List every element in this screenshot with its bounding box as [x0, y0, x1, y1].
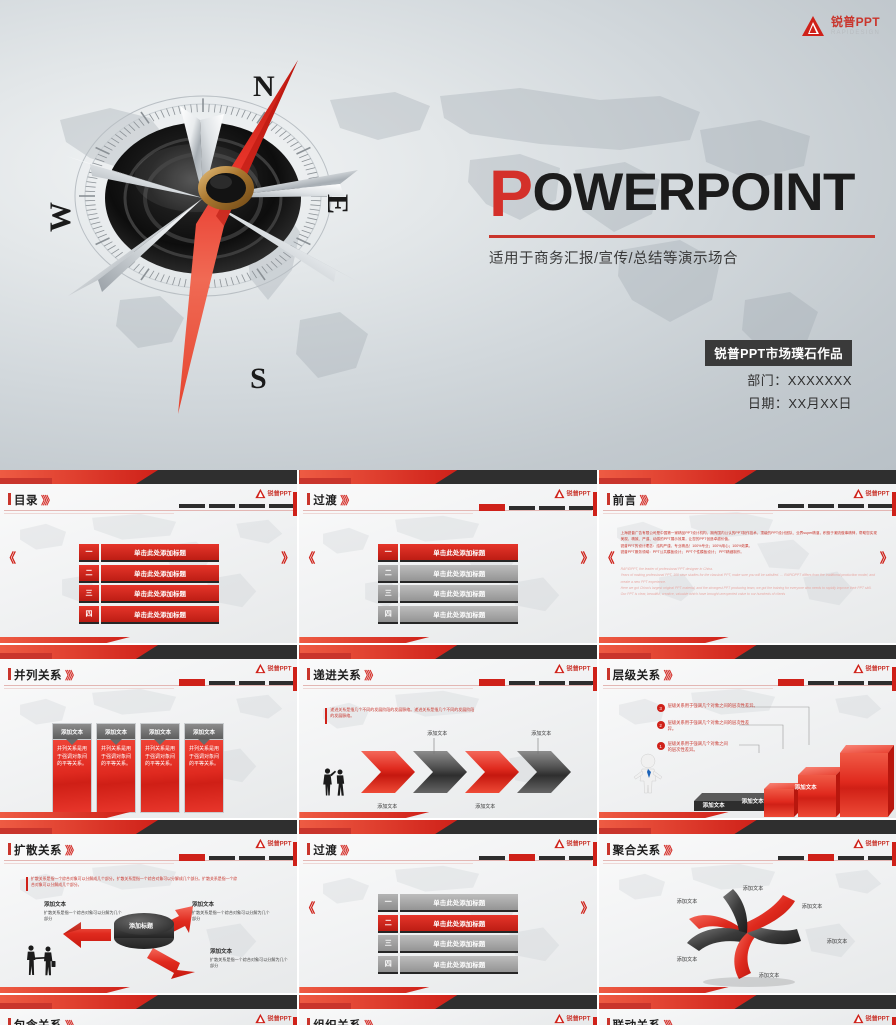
- prev-arrow-icon[interactable]: 《: [302, 547, 315, 566]
- hero-title-block: POWERPOINT 适用于商务汇报/宣传/总结等演示场合: [489, 160, 879, 268]
- slide-header-rule-2: [603, 513, 773, 514]
- slide-nav-dashes[interactable]: [179, 504, 295, 508]
- slide-header-rule-2: [4, 688, 174, 689]
- menu-item[interactable]: 三 单击此处添加标题: [378, 935, 518, 951]
- slide-title: 组织关系》》: [307, 1017, 377, 1025]
- slide-logo-text: 锐普PPT: [866, 489, 890, 498]
- menu-label: 单击此处添加标题: [400, 565, 518, 581]
- chevron-icon: 》》: [664, 845, 677, 857]
- nav-dash-4[interactable]: [569, 681, 595, 685]
- hero-badge: 锐普PPT市场璞石作品: [705, 340, 852, 366]
- menu-item[interactable]: 四 单击此处添加标题: [79, 606, 219, 622]
- slide-top-band: [0, 995, 297, 1009]
- slide-top-band: [299, 470, 596, 484]
- slide-header-rule-2: [4, 513, 174, 514]
- aggregation-label-5: 添加文本: [759, 972, 780, 979]
- hierarchy-bullet-number: 1: [657, 742, 665, 750]
- menu-item[interactable]: 一 单击此处添加标题: [79, 544, 219, 560]
- menu-number: 一: [79, 544, 99, 560]
- business-people-silhouette: [321, 767, 347, 797]
- slide-right-edge: [892, 842, 896, 866]
- menu-item[interactable]: 四 单击此处添加标题: [378, 956, 518, 972]
- aggregation-label-1: 添加文本: [677, 898, 698, 905]
- menu-number: 二: [378, 915, 398, 931]
- slide-header-rule-2: [603, 863, 773, 864]
- slide-logo-text: 锐普PPT: [567, 489, 591, 498]
- menu-number: 二: [79, 565, 99, 581]
- preface-paragraph-en: RAPIDPPT, the leader of professional PPT…: [621, 566, 879, 597]
- menu-label: 单击此处添加标题: [101, 606, 219, 622]
- slide-logo: 锐普PPT: [254, 488, 291, 499]
- nav-dash-2[interactable]: [808, 504, 834, 508]
- progressive-leader-line-2: [531, 738, 545, 754]
- slide-title: 递进关系》》: [307, 667, 377, 683]
- thumbnail-row-1: 目录》》 锐普PPT 《 》 一 单击此处添加标题: [0, 470, 896, 643]
- slide-title: 层级关系》》: [607, 667, 677, 683]
- chevron-icon: 》》: [65, 1020, 78, 1025]
- slide-thumbnail-grid: 目录》》 锐普PPT 《 》 一 单击此处添加标题: [0, 470, 896, 1027]
- progressive-leader-line-1: [427, 738, 441, 754]
- diffusion-branch-desc-3: 扩散关系是指一个综合对象可以分解为几个部分: [210, 957, 288, 969]
- parallel-column-body: 并列关系是用于强调对象间的平等关系。: [140, 740, 180, 813]
- slide-top-band: [0, 470, 297, 484]
- menu-label: 单击此处添加标题: [400, 935, 518, 951]
- diffusion-branch-desc-2: 扩散关系是指一个综合对象可以分解为几个部分: [192, 910, 270, 922]
- slide-thumb-transition-2[interactable]: 过渡》》 锐普PPT 《 》 一 单击此处添加标题: [299, 820, 596, 993]
- slide-title: 目录》》: [8, 492, 54, 508]
- brand-logo: 锐普PPT RAPIDESIGN: [800, 14, 880, 38]
- slide-nav-dashes[interactable]: [778, 679, 894, 686]
- menu-number: 一: [378, 894, 398, 910]
- diffusion-branch-label-3: 添加文本: [210, 947, 232, 955]
- menu-item[interactable]: 三 单击此处添加标题: [378, 585, 518, 601]
- slide-logo-text: 锐普PPT: [866, 664, 890, 673]
- page-title: POWERPOINT: [489, 160, 879, 226]
- parallel-columns: 添加文本 并列关系是用于强调对象间的平等关系。 添加文本 并列关系是用于强调对象…: [52, 723, 224, 813]
- compass-illustration: N W E S: [28, 48, 378, 428]
- chevron-icon: 》》: [65, 670, 78, 682]
- slide-right-edge: [892, 1017, 896, 1025]
- menu-item[interactable]: 三 单击此处添加标题: [79, 585, 219, 601]
- nav-dash-2[interactable]: [209, 681, 235, 685]
- nav-dash-3[interactable]: [239, 681, 265, 685]
- handshake-people-silhouette: [24, 944, 58, 976]
- slide-nav-dashes[interactable]: [479, 679, 595, 686]
- compass-west-label: W: [44, 202, 77, 232]
- slide-title: 扩散关系》》: [8, 842, 78, 858]
- slide-nav-dashes[interactable]: [778, 504, 894, 508]
- slide-thumb-linkage[interactable]: 联动关系》》 锐普PPT: [599, 995, 896, 1025]
- slide-header-rule: [4, 510, 293, 511]
- slide-top-band: [0, 645, 297, 659]
- slide-top-band: [299, 820, 596, 834]
- slide-header-rule-2: [303, 513, 473, 514]
- nav-dash-1[interactable]: [479, 504, 505, 511]
- slide-logo-text: 锐普PPT: [866, 839, 890, 848]
- progressive-label-top-2: 添加文本: [531, 730, 551, 737]
- slide-nav-dashes[interactable]: [479, 854, 595, 861]
- menu-label: 单击此处添加标题: [400, 915, 518, 931]
- diffusion-branch-label-2: 添加文本: [192, 900, 214, 908]
- slide-header-rule: [603, 510, 892, 511]
- nav-dash-4[interactable]: [569, 856, 595, 860]
- slide-thumb-hierarchy[interactable]: 层级关系》》 锐普PPT 3 层级关系用于强调几个对象之间的层次性差异。 2 层…: [599, 645, 896, 818]
- 3d-mascot-figure: [632, 753, 664, 795]
- nav-dash-2[interactable]: [209, 504, 235, 508]
- nav-dash-2[interactable]: [808, 854, 834, 861]
- slide-right-edge: [293, 1017, 297, 1025]
- slide-top-band: [599, 645, 896, 659]
- parallel-column-head: 添加文本: [96, 723, 136, 740]
- catalog-menu: 一 单击此处添加标题 二 单击此处添加标题 三 单击此处添加标题 四 单击此处添…: [79, 544, 219, 626]
- nav-dash-4[interactable]: [868, 504, 894, 508]
- menu-label: 单击此处添加标题: [400, 606, 518, 622]
- title-rest: OWERPOINT: [533, 163, 855, 222]
- parallel-column[interactable]: 添加文本 并列关系是用于强调对象间的平等关系。: [96, 723, 136, 813]
- progressive-label-bottom-1: 添加文本: [377, 803, 397, 810]
- nav-dash-1[interactable]: [479, 679, 505, 686]
- slide-logo: 锐普PPT: [254, 663, 291, 674]
- menu-label: 单击此处添加标题: [101, 585, 219, 601]
- nav-dash-2[interactable]: [509, 506, 535, 510]
- compass-north-label: N: [253, 70, 275, 103]
- menu-item[interactable]: 二 单击此处添加标题: [378, 915, 518, 931]
- slide-logo-text: 锐普PPT: [567, 664, 591, 673]
- menu-label: 单击此处添加标题: [101, 544, 219, 560]
- aggregation-label-3: 添加文本: [802, 903, 823, 910]
- transition-menu: 一 单击此处添加标题 二 单击此处添加标题 三 单击此处添加标题 四 单击此处添…: [378, 544, 518, 626]
- thumbnail-row-3: 扩散关系》》 锐普PPT 扩散关系是指一个综合对象可以分解成几个部分。扩散关系是…: [0, 820, 896, 993]
- menu-number: 四: [378, 606, 398, 622]
- parallel-column-body: 并列关系是用于强调对象间的平等关系。: [52, 740, 92, 813]
- slide-logo: 锐普PPT: [554, 1013, 591, 1024]
- compass-south-label: S: [250, 362, 267, 395]
- nav-dash-1[interactable]: [778, 504, 804, 508]
- parallel-column[interactable]: 添加文本 并列关系是用于强调对象间的平等关系。: [140, 723, 180, 813]
- slide-top-band: [599, 995, 896, 1009]
- chevron-icon: 》》: [340, 495, 353, 507]
- slide-top-band: [599, 820, 896, 834]
- parallel-column-head: 添加文本: [184, 723, 224, 740]
- prev-arrow-icon[interactable]: 《: [3, 547, 16, 566]
- prev-arrow-icon[interactable]: 《: [302, 897, 315, 916]
- chevron-icon: 》》: [65, 845, 78, 857]
- slide-title: 前言》》: [607, 492, 653, 508]
- slide-header-rule-2: [603, 688, 773, 689]
- slide-top-band: [599, 470, 896, 484]
- slide-right-edge: [293, 667, 297, 691]
- chevron-icon: 》》: [664, 1020, 677, 1025]
- slide-thumb-transition-1[interactable]: 过渡》》 锐普PPT 《 》 一 单击此处添加标题: [299, 470, 596, 643]
- nav-dash-3[interactable]: [239, 856, 265, 860]
- slide-right-edge: [593, 842, 597, 866]
- nav-dash-3[interactable]: [239, 504, 265, 508]
- prev-arrow-icon[interactable]: 《: [602, 547, 615, 566]
- slide-thumb-parallel[interactable]: 并列关系》》 锐普PPT 添加文本 并列关系是用于强调对象间的平等关系。: [0, 645, 297, 818]
- nav-dash-3[interactable]: [539, 681, 565, 685]
- nav-dash-3[interactable]: [539, 856, 565, 860]
- slide-logo: 锐普PPT: [853, 838, 890, 849]
- hero-subtitle: 适用于商务汇报/宣传/总结等演示场合: [489, 247, 879, 268]
- slide-title: 过渡》》: [307, 842, 353, 858]
- slide-logo-text: 锐普PPT: [866, 1014, 890, 1023]
- nav-dash-1[interactable]: [479, 856, 505, 860]
- slide-top-band: [0, 820, 297, 834]
- menu-number: 四: [79, 606, 99, 622]
- menu-label: 单击此处添加标题: [101, 565, 219, 581]
- thumbnail-row-2: 并列关系》》 锐普PPT 添加文本 并列关系是用于强调对象间的平等关系。: [0, 645, 896, 818]
- menu-number: 三: [79, 585, 99, 601]
- menu-number: 一: [378, 544, 398, 560]
- logo-chinese-text: 锐普PPT: [831, 16, 880, 28]
- slide-logo: 锐普PPT: [853, 488, 890, 499]
- chevron-icon: 》》: [664, 670, 677, 682]
- slide-title: 并列关系》》: [8, 667, 78, 683]
- hero-date: 日期：XX月XX日: [676, 393, 852, 412]
- menu-label: 单击此处添加标题: [400, 585, 518, 601]
- slide-logo: 锐普PPT: [554, 663, 591, 674]
- parallel-column-body: 并列关系是用于强调对象间的平等关系。: [96, 740, 136, 813]
- slide-thumb-organization[interactable]: 组织关系》》 锐普PPT: [299, 995, 596, 1025]
- slide-title: 联动关系》》: [607, 1017, 677, 1025]
- slide-logo: 锐普PPT: [254, 1013, 291, 1024]
- menu-number: 三: [378, 935, 398, 951]
- parallel-column-body: 并列关系是用于强调对象间的平等关系。: [184, 740, 224, 813]
- slide-nav-dashes[interactable]: [479, 504, 595, 511]
- slide-title: 聚合关系》》: [607, 842, 677, 858]
- parallel-column-head: 添加文本: [52, 723, 92, 740]
- slide-right-edge: [593, 1017, 597, 1025]
- progressive-label-bottom-2: 添加文本: [475, 803, 495, 810]
- slide-logo: 锐普PPT: [554, 838, 591, 849]
- nav-dash-4[interactable]: [269, 681, 295, 685]
- hero-info-block: 锐普PPT市场璞石作品 部门：XXXXXXX 日期：XX月XX日: [676, 340, 852, 412]
- hierarchy-bullet-number: 2: [657, 721, 665, 729]
- progressive-label-top-1: 添加文本: [427, 730, 447, 737]
- next-arrow-icon[interactable]: 》: [281, 547, 294, 566]
- aggregation-label-2: 添加文本: [743, 885, 764, 892]
- slide-right-edge: [293, 842, 297, 866]
- slide-thumb-catalog[interactable]: 目录》》 锐普PPT 《 》 一 单击此处添加标题: [0, 470, 297, 643]
- nav-dash-3[interactable]: [838, 504, 864, 508]
- hierarchy-bullet-number: 3: [657, 704, 665, 712]
- slide-logo: 锐普PPT: [254, 838, 291, 849]
- menu-label: 单击此处添加标题: [400, 544, 518, 560]
- hierarchy-cube-label-3: 添加文本: [795, 783, 817, 791]
- slide-logo: 锐普PPT: [554, 488, 591, 499]
- slide-right-edge: [293, 492, 297, 516]
- menu-item[interactable]: 二 单击此处添加标题: [378, 565, 518, 581]
- nav-dash-4[interactable]: [269, 856, 295, 860]
- transition-menu: 一 单击此处添加标题 二 单击此处添加标题 三 单击此处添加标题 四 单击此处添…: [378, 894, 518, 976]
- compass-east-label: E: [321, 194, 354, 214]
- nav-dash-1[interactable]: [179, 504, 205, 508]
- slide-thumb-preface[interactable]: 前言》》 锐普PPT 《 》 上海锐普广告有限公司是中国第一家精品PPT设计机构…: [599, 470, 896, 643]
- rapidesign-triangle-icon: [800, 14, 826, 38]
- slide-logo-text: 锐普PPT: [267, 664, 291, 673]
- slide-logo-text: 锐普PPT: [267, 489, 291, 498]
- diffusion-branch-label-1: 添加文本: [44, 900, 66, 908]
- title-slide: N W E S 锐普PPT RAPIDESIGN POWERPOINT 适用于商…: [0, 0, 896, 470]
- chevron-icon: 》》: [364, 1020, 377, 1025]
- nav-dash-1[interactable]: [179, 679, 205, 686]
- menu-label: 单击此处添加标题: [400, 956, 518, 972]
- nav-dash-3[interactable]: [539, 506, 565, 510]
- slide-thumb-progressive[interactable]: 递进关系》》 锐普PPT 递进关系是指几个不同的发展阶段的发展脉络。递进关系是指…: [299, 645, 596, 818]
- next-arrow-icon[interactable]: 》: [581, 897, 594, 916]
- menu-label: 单击此处添加标题: [400, 894, 518, 910]
- diffusion-branch-desc-1: 扩散关系是指一个综合对象可以分解为几个部分: [44, 910, 122, 922]
- slide-nav-dashes[interactable]: [179, 854, 295, 861]
- menu-number: 四: [378, 956, 398, 972]
- slide-right-edge: [593, 667, 597, 691]
- next-arrow-icon[interactable]: 》: [880, 547, 893, 566]
- slide-logo-text: 锐普PPT: [267, 1014, 291, 1023]
- nav-dash-4[interactable]: [868, 681, 894, 685]
- slide-title: 过渡》》: [307, 492, 353, 508]
- parallel-column-head: 添加文本: [140, 723, 180, 740]
- nav-dash-3[interactable]: [838, 856, 864, 860]
- menu-item[interactable]: 一 单击此处添加标题: [378, 894, 518, 910]
- title-lead-letter: P: [489, 156, 533, 230]
- slide-header-rule-2: [4, 863, 174, 864]
- diffusion-note: 扩散关系是指一个综合对象可以分解成几个部分。扩散关系是指一个综合对象可以分解成几…: [26, 876, 241, 889]
- slide-right-edge: [892, 667, 896, 691]
- logo-english-text: RAPIDESIGN: [831, 30, 880, 36]
- parallel-column[interactable]: 添加文本 并列关系是用于强调对象间的平等关系。: [52, 723, 92, 813]
- slide-thumb-diffusion[interactable]: 扩散关系》》 锐普PPT 扩散关系是指一个综合对象可以分解成几个部分。扩散关系是…: [0, 820, 297, 993]
- nav-dash-2[interactable]: [509, 681, 535, 685]
- nav-dash-4[interactable]: [868, 856, 894, 860]
- menu-number: 二: [378, 565, 398, 581]
- slide-logo: 锐普PPT: [853, 663, 890, 674]
- slide-header-rule-2: [303, 688, 473, 689]
- progressive-note: 递进关系是指几个不同的发展阶段的发展脉络。递进关系是指几个不同的发展阶段的发展脉…: [325, 707, 475, 720]
- slide-top-band: [299, 995, 596, 1009]
- chevron-icon: 》》: [364, 670, 377, 682]
- slide-header-rule-2: [303, 863, 473, 864]
- nav-dash-2[interactable]: [808, 681, 834, 685]
- slide-top-band: [299, 645, 596, 659]
- slide-nav-dashes[interactable]: [179, 679, 295, 686]
- nav-dash-2[interactable]: [209, 856, 235, 860]
- slide-nav-dashes[interactable]: [778, 854, 894, 861]
- slide-right-edge: [593, 492, 597, 516]
- hero-department: 部门：XXXXXXX: [676, 370, 852, 389]
- nav-dash-1[interactable]: [179, 854, 205, 861]
- slide-logo-text: 锐普PPT: [567, 839, 591, 848]
- menu-item[interactable]: 四 单击此处添加标题: [378, 606, 518, 622]
- chevron-icon: 》》: [640, 495, 653, 507]
- nav-dash-1[interactable]: [778, 856, 804, 860]
- aggregation-label-4: 添加文本: [827, 938, 848, 945]
- slide-thumb-contains[interactable]: 包含关系》》 锐普PPT: [0, 995, 297, 1025]
- nav-dash-3[interactable]: [838, 681, 864, 685]
- hierarchy-cube-label-1: 添加文本: [703, 801, 725, 809]
- menu-number: 三: [378, 585, 398, 601]
- slide-logo-text: 锐普PPT: [567, 1014, 591, 1023]
- parallel-column[interactable]: 添加文本 并列关系是用于强调对象间的平等关系。: [184, 723, 224, 813]
- slide-right-edge: [892, 492, 896, 516]
- preface-paragraph-cn: 上海锐普广告有限公司是中国第一家精品PPT设计机构，拥有国内公认的PPT制作技术…: [621, 530, 879, 555]
- aggregation-label-6: 添加文本: [677, 956, 698, 963]
- aggregation-pinwheel: [667, 878, 827, 988]
- nav-dash-4[interactable]: [569, 506, 595, 510]
- menu-item[interactable]: 一 单击此处添加标题: [378, 544, 518, 560]
- diffusion-center-label: 添加标题: [129, 921, 153, 930]
- slide-thumb-aggregation[interactable]: 聚合关系》》 锐普PPT: [599, 820, 896, 993]
- hierarchy-cube-label-2: 添加文本: [742, 797, 764, 805]
- chevron-icon: 》》: [340, 845, 353, 857]
- chevron-icon: 》》: [41, 495, 54, 507]
- slide-logo: 锐普PPT: [853, 1013, 890, 1024]
- next-arrow-icon[interactable]: 》: [581, 547, 594, 566]
- title-underline: [489, 235, 875, 238]
- menu-item[interactable]: 二 单击此处添加标题: [79, 565, 219, 581]
- nav-dash-4[interactable]: [269, 504, 295, 508]
- slide-title: 包含关系》》: [8, 1017, 78, 1025]
- nav-dash-1[interactable]: [778, 679, 804, 686]
- thumbnail-row-4-partial: 包含关系》》 锐普PPT 组织关系》》: [0, 995, 896, 1025]
- nav-dash-2[interactable]: [509, 854, 535, 861]
- slide-logo-text: 锐普PPT: [267, 839, 291, 848]
